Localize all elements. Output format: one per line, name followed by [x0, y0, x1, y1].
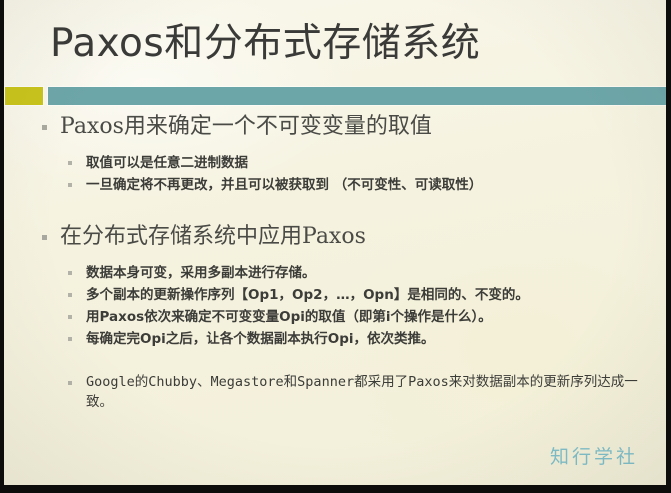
slide-body: Paxos用来确定一个不可变变量的取值 取值可以是任意二进制数据 一旦确定将不再… — [4, 112, 666, 412]
bullet-square-icon — [42, 235, 47, 240]
bullet-square-icon — [68, 337, 72, 341]
bullet-square-icon — [68, 381, 72, 385]
bullet-square-icon — [68, 271, 72, 275]
list-item: 取值可以是任意二进制数据 — [4, 152, 666, 174]
list-item: 用Paxos依次来确定不可变变量Opi的取值（即第i个操作是什么）。 — [4, 306, 666, 328]
bullet-square-icon — [68, 183, 72, 187]
list-item: 一旦确定将不再更改，并且可以被获取到 （不可变性、可读取性） — [4, 174, 666, 196]
accent-bar-decoration — [48, 87, 666, 105]
bullet-square-icon — [68, 315, 72, 319]
list-item-label: 每确定完Opi之后，让各个数据副本执行Opi，依次类推。 — [86, 331, 435, 347]
list-item-note: Google的Chubby、Megastore和Spanner都采用了Paxos… — [4, 372, 666, 412]
section-heading-2: 在分布式存储系统中应用Paxos — [4, 222, 666, 252]
accent-square-decoration — [5, 87, 43, 105]
list-item-label: 多个副本的更新操作序列【Op1，Op2，…，Opn】是相同的、不变的。 — [86, 287, 529, 303]
list-item-label: 数据本身可变，采用多副本进行存储。 — [86, 265, 316, 281]
bullet-square-icon — [68, 161, 72, 165]
list-item-label: 用Paxos依次来确定不可变变量Opi的取值（即第i个操作是什么）。 — [86, 309, 492, 325]
section-heading-2-label: 在分布式存储系统中应用Paxos — [60, 224, 366, 249]
slide-canvas: Paxos和分布式存储系统 Paxos用来确定一个不可变变量的取值 取值可以是任… — [4, 0, 666, 485]
title-divider — [4, 85, 666, 107]
list-item: 数据本身可变，采用多副本进行存储。 — [4, 262, 666, 284]
list-item: 多个副本的更新操作序列【Op1，Op2，…，Opn】是相同的、不变的。 — [4, 284, 666, 306]
list-item-label: 取值可以是任意二进制数据 — [86, 155, 248, 171]
spacer — [4, 252, 666, 262]
page-title: Paxos和分布式存储系统 — [50, 18, 480, 70]
title-block: Paxos和分布式存储系统 — [4, 18, 666, 84]
slide-frame: Paxos和分布式存储系统 Paxos用来确定一个不可变变量的取值 取值可以是任… — [0, 0, 671, 493]
watermark: 知行学社 — [550, 442, 638, 469]
bullet-square-icon — [68, 293, 72, 297]
list-item: 每确定完Opi之后，让各个数据副本执行Opi，依次类推。 — [4, 328, 666, 350]
section-heading-1-label: Paxos用来确定一个不可变变量的取值 — [60, 114, 432, 139]
spacer — [4, 142, 666, 152]
section-heading-1: Paxos用来确定一个不可变变量的取值 — [4, 112, 666, 142]
bullet-square-icon — [42, 125, 47, 130]
list-item-note-label: Google的Chubby、Megastore和Spanner都采用了Paxos… — [86, 374, 638, 410]
list-item-label: 一旦确定将不再更改，并且可以被获取到 （不可变性、可读取性） — [86, 177, 482, 193]
spacer — [4, 350, 666, 372]
spacer — [4, 196, 666, 222]
